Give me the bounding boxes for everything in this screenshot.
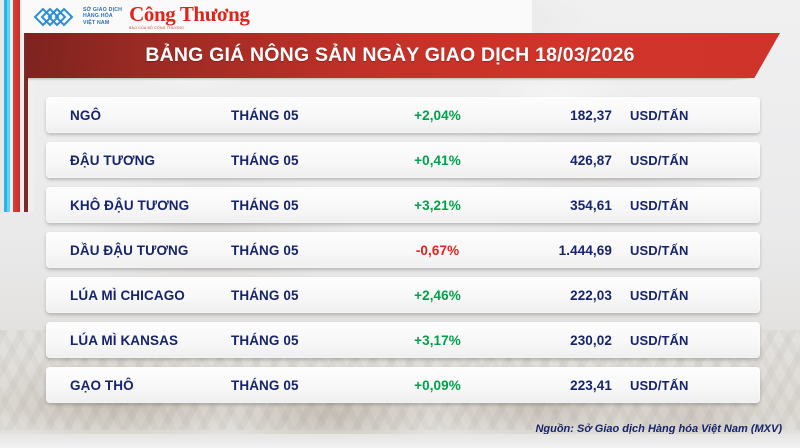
congthuong-logo-name: Công Thương bbox=[129, 4, 249, 25]
price-value: 354,61 bbox=[504, 198, 612, 213]
price-value: 426,87 bbox=[504, 153, 612, 168]
price-table: NGÔTHÁNG 05+2,04%182,37USD/TẤNĐẬU TƯƠNGT… bbox=[46, 97, 760, 412]
bottom-strip bbox=[0, 434, 800, 448]
mxv-logo-text: SỞ GIAO DỊCH HÀNG HÓA VIỆT NAM bbox=[83, 7, 122, 27]
title-banner: BẢNG GIÁ NÔNG SẢN NGÀY GIAO DỊCH 18/03/2… bbox=[26, 33, 780, 78]
table-row[interactable]: ĐẬU TƯƠNGTHÁNG 05+0,41%426,87USD/TẤN bbox=[46, 142, 760, 178]
logo-bar: SỞ GIAO DỊCH HÀNG HÓA VIỆT NAM Công Thươ… bbox=[22, 0, 532, 33]
contract-month: THÁNG 05 bbox=[231, 153, 371, 168]
change-percent: +2,04% bbox=[371, 108, 504, 123]
accent-stripe-red bbox=[13, 0, 20, 212]
change-percent: +3,17% bbox=[371, 333, 504, 348]
price-unit: USD/TẤN bbox=[612, 333, 688, 348]
mxv-logo-line-2: HÀNG HÓA bbox=[83, 13, 122, 20]
commodity-name: ĐẬU TƯƠNG bbox=[46, 153, 231, 168]
change-percent: -0,67% bbox=[371, 243, 504, 258]
table-row[interactable]: NGÔTHÁNG 05+2,04%182,37USD/TẤN bbox=[46, 97, 760, 133]
price-value: 1.444,69 bbox=[504, 243, 612, 258]
infographic-canvas: SỞ GIAO DỊCH HÀNG HÓA VIỆT NAM Công Thươ… bbox=[0, 0, 800, 448]
price-value: 223,41 bbox=[504, 378, 612, 393]
change-percent: +0,41% bbox=[371, 153, 504, 168]
contract-month: THÁNG 05 bbox=[231, 108, 371, 123]
price-unit: USD/TẤN bbox=[612, 378, 688, 393]
change-percent: +2,46% bbox=[371, 288, 504, 303]
congthuong-logo: Công Thương BÁO CỦA BỘ CÔNG THƯƠNG bbox=[129, 4, 249, 30]
commodity-name: NGÔ bbox=[46, 108, 231, 123]
mxv-chevron-logo-icon bbox=[32, 5, 78, 29]
price-value: 222,03 bbox=[504, 288, 612, 303]
title-banner-shadow bbox=[26, 78, 754, 81]
contract-month: THÁNG 05 bbox=[231, 243, 371, 258]
contract-month: THÁNG 05 bbox=[231, 288, 371, 303]
commodity-name: LÚA MÌ KANSAS bbox=[46, 333, 231, 348]
contract-month: THÁNG 05 bbox=[231, 333, 371, 348]
congthuong-logo-subtitle: BÁO CỦA BỘ CÔNG THƯƠNG bbox=[129, 26, 249, 30]
table-row[interactable]: DẦU ĐẬU TƯƠNGTHÁNG 05-0,67%1.444,69USD/T… bbox=[46, 232, 760, 268]
price-unit: USD/TẤN bbox=[612, 288, 688, 303]
price-unit: USD/TẤN bbox=[612, 243, 688, 258]
contract-month: THÁNG 05 bbox=[231, 378, 371, 393]
mxv-logo-line-3: VIỆT NAM bbox=[83, 20, 122, 27]
change-percent: +0,09% bbox=[371, 378, 504, 393]
page-title: BẢNG GIÁ NÔNG SẢN NGÀY GIAO DỊCH 18/03/2… bbox=[145, 44, 634, 67]
mxv-logo: SỞ GIAO DỊCH HÀNG HÓA VIỆT NAM bbox=[32, 5, 122, 29]
commodity-name: LÚA MÌ CHICAGO bbox=[46, 288, 231, 303]
table-row[interactable]: KHÔ ĐẬU TƯƠNGTHÁNG 05+3,21%354,61USD/TẤN bbox=[46, 187, 760, 223]
commodity-name: GẠO THÔ bbox=[46, 378, 231, 393]
contract-month: THÁNG 05 bbox=[231, 198, 371, 213]
price-unit: USD/TẤN bbox=[612, 153, 688, 168]
table-row[interactable]: LÚA MÌ KANSASTHÁNG 05+3,17%230,02USD/TẤN bbox=[46, 322, 760, 358]
price-value: 230,02 bbox=[504, 333, 612, 348]
commodity-name: DẦU ĐẬU TƯƠNG bbox=[46, 243, 231, 258]
price-unit: USD/TẤN bbox=[612, 108, 688, 123]
table-row[interactable]: GẠO THÔTHÁNG 05+0,09%223,41USD/TẤN bbox=[46, 367, 760, 403]
change-percent: +3,21% bbox=[371, 198, 504, 213]
commodity-name: KHÔ ĐẬU TƯƠNG bbox=[46, 198, 231, 213]
table-row[interactable]: LÚA MÌ CHICAGOTHÁNG 05+2,46%222,03USD/TẤ… bbox=[46, 277, 760, 313]
price-value: 182,37 bbox=[504, 108, 612, 123]
price-unit: USD/TẤN bbox=[612, 198, 688, 213]
